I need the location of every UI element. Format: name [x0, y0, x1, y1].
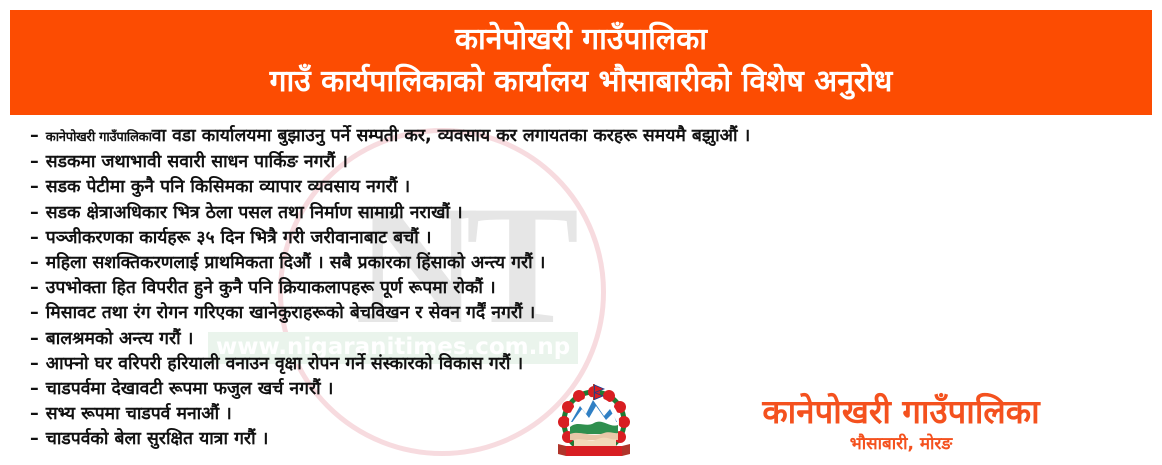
bullet-dash-icon: –: [30, 124, 39, 149]
notice-poster: NT www.nigaranitimes.com.np कानेपोखरी गा…: [0, 0, 1162, 465]
list-item: – सडक पेटीमा कुनै पनि किसिमका व्यापार व्…: [30, 175, 1140, 200]
bullet-dash-icon: –: [30, 327, 39, 352]
list-item-text: उपभोक्ता हित विपरीत हुने कुनै पनि क्रिया…: [46, 276, 496, 301]
banner-title-municipality: कानेपोखरी गाउँपालिका: [455, 20, 707, 60]
list-item-text: मिसावट तथा रंग रोगन गरिएका खानेकुराहरूको…: [46, 301, 535, 326]
banner-title-office-request: गाउँ कार्यपालिकाको कार्यालय भौसाबारीको व…: [270, 60, 893, 104]
list-item: – महिला सशक्तिकरणलाई प्राथमिकता दिऔं । स…: [30, 251, 1140, 276]
bullet-dash-icon: –: [30, 276, 39, 301]
list-item: – सडकमा जथाभावी सवारी साधन पार्किङ नगरौं…: [30, 150, 1140, 175]
bullet-dash-icon: –: [30, 201, 39, 226]
list-item-text: चाडपर्वमा देखावटी रूपमा फजुल खर्च नगरौं …: [46, 377, 334, 402]
list-item-lead: कानेपोखरी गाउँपालिका: [46, 130, 152, 145]
footer-logo-text: कानेपोखरी गाउँपालिका भौसाबारी, मोरङ: [650, 391, 1152, 455]
footer-logo-address: भौसाबारी, मोरङ: [650, 433, 1152, 455]
bullet-dash-icon: –: [30, 301, 39, 326]
list-item-text: सडकमा जथाभावी सवारी साधन पार्किङ नगरौं ।: [46, 150, 348, 175]
list-item-text: महिला सशक्तिकरणलाई प्राथमिकता दिऔं । सबै…: [46, 251, 546, 276]
bullet-dash-icon: –: [30, 402, 39, 427]
list-item: – बालश्रमको अन्त्य गरौं ।: [30, 327, 1140, 352]
list-item: – उपभोक्ता हित विपरीत हुने कुनै पनि क्रि…: [30, 276, 1140, 301]
list-item-text: आफ्नो घर वरिपरी हरियाली वनाउन वृक्षा रोप…: [46, 352, 523, 377]
list-item-text: सडक पेटीमा कुनै पनि किसिमका व्यापार व्यव…: [46, 175, 410, 200]
bullet-dash-icon: –: [30, 226, 39, 251]
bullet-dash-icon: –: [30, 150, 39, 175]
list-item: – मिसावट तथा रंग रोगन गरिएका खानेकुराहरू…: [30, 301, 1140, 326]
list-item: – पञ्जीकरणका कार्यहरू ३५ दिन भित्रै गरी …: [30, 226, 1140, 251]
header-banner: कानेपोखरी गाउँपालिका गाउँ कार्यपालिकाको …: [10, 10, 1152, 115]
footer-logo: कानेपोखरी गाउँपालिका भौसाबारी, मोरङ: [552, 380, 1152, 465]
footer-logo-municipality: कानेपोखरी गाउँपालिका: [650, 391, 1152, 433]
list-item-text: सडक क्षेत्राअधिकार भित्र ठेला पसल तथा नि…: [46, 201, 463, 226]
bullet-dash-icon: –: [30, 251, 39, 276]
nepal-government-emblem-icon: [552, 382, 636, 464]
list-item-text: चाडपर्वको बेला सुरक्षित यात्रा गरौं ।: [46, 427, 269, 452]
bullet-dash-icon: –: [30, 352, 39, 377]
list-item-text: बालश्रमको अन्त्य गरौं ।: [46, 327, 194, 352]
list-item: – आफ्नो घर वरिपरी हरियाली वनाउन वृक्षा र…: [30, 352, 1140, 377]
list-item: – कानेपोखरी गाउँपालिकावा वडा कार्यालयमा …: [30, 124, 1140, 150]
bullet-dash-icon: –: [30, 427, 39, 452]
list-item-text: सभ्य रूपमा चाडपर्व मनाऔं ।: [46, 402, 232, 427]
bullet-dash-icon: –: [30, 377, 39, 402]
list-item: – सडक क्षेत्राअधिकार भित्र ठेला पसल तथा …: [30, 201, 1140, 226]
list-item-text: कानेपोखरी गाउँपालिकावा वडा कार्यालयमा बु…: [46, 124, 751, 150]
list-item-text: पञ्जीकरणका कार्यहरू ३५ दिन भित्रै गरी जर…: [46, 226, 432, 251]
bullet-dash-icon: –: [30, 175, 39, 200]
list-item-body: वा वडा कार्यालयमा बुझाउनु पर्ने सम्पती क…: [152, 126, 751, 146]
